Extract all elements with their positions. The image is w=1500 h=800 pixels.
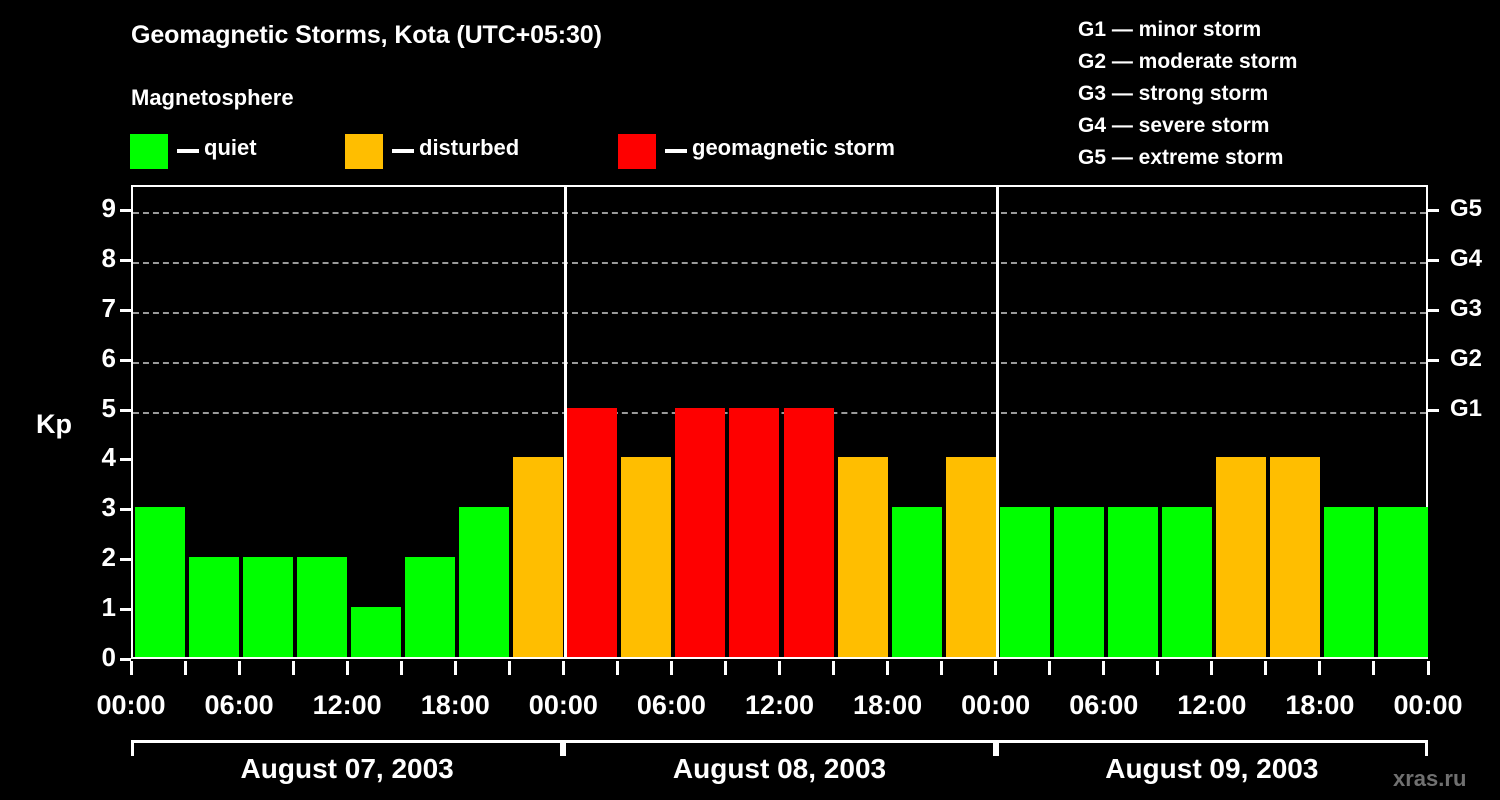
y-tick-mark-7 (120, 309, 131, 312)
date-label-2: August 08, 2003 (673, 753, 886, 785)
y-axis-title: Kp (36, 409, 72, 440)
y-tick-label-7: 7 (102, 293, 116, 324)
bar[interactable] (243, 557, 293, 657)
bar[interactable] (567, 408, 617, 657)
x-tick-mark-8 (562, 661, 565, 675)
gscale-legend-row-1: G1 — minor storm (1078, 14, 1297, 46)
y-tick-label-2: 2 (102, 542, 116, 573)
x-tick-mark-2 (238, 661, 241, 675)
bar[interactable] (1270, 457, 1320, 657)
legend-label: disturbed (419, 135, 519, 161)
bar[interactable] (1000, 507, 1050, 657)
gscale-legend-row-2: G2 — moderate storm (1078, 46, 1297, 78)
g-tick-mark-G3 (1428, 309, 1439, 312)
x-tick-mark-3 (292, 661, 295, 675)
bar[interactable] (135, 507, 185, 657)
x-tick-label-11: 18:00 (1285, 690, 1354, 721)
x-tick-label-2: 12:00 (313, 690, 382, 721)
g-tick-label-G5: G5 (1450, 195, 1482, 223)
x-tick-mark-21 (1264, 661, 1267, 675)
x-tick-mark-14 (886, 661, 889, 675)
legend-swatch-icon (130, 134, 168, 169)
x-tick-mark-17 (1048, 661, 1051, 675)
plot-area[interactable] (131, 185, 1428, 659)
bar[interactable] (405, 557, 455, 657)
x-tick-label-8: 00:00 (961, 690, 1030, 721)
x-tick-mark-0 (130, 661, 133, 675)
g-tick-mark-G4 (1428, 259, 1439, 262)
watermark: xras.ru (1393, 766, 1466, 792)
x-tick-mark-13 (832, 661, 835, 675)
legend-swatch-icon (345, 134, 383, 169)
legend-swatch-icon (618, 134, 656, 169)
g-tick-label-G4: G4 (1450, 245, 1482, 273)
y-tick-label-6: 6 (102, 343, 116, 374)
x-tick-mark-5 (400, 661, 403, 675)
bar[interactable] (459, 507, 509, 657)
x-tick-mark-22 (1318, 661, 1321, 675)
x-tick-mark-9 (616, 661, 619, 675)
y-tick-mark-2 (120, 558, 131, 561)
x-tick-label-1: 06:00 (205, 690, 274, 721)
g-tick-label-G3: G3 (1450, 295, 1482, 323)
bar[interactable] (1108, 507, 1158, 657)
x-tick-mark-1 (184, 661, 187, 675)
bar[interactable] (1054, 507, 1104, 657)
x-tick-mark-18 (1102, 661, 1105, 675)
gscale-legend-row-4: G4 — severe storm (1078, 110, 1297, 142)
g-tick-label-G2: G2 (1450, 345, 1482, 373)
legend-dash-icon (392, 149, 414, 153)
x-tick-label-9: 06:00 (1069, 690, 1138, 721)
bar[interactable] (1378, 507, 1428, 657)
y-tick-label-4: 4 (102, 442, 116, 473)
x-tick-label-5: 06:00 (637, 690, 706, 721)
x-tick-mark-7 (508, 661, 511, 675)
y-tick-label-0: 0 (102, 642, 116, 673)
x-tick-mark-24 (1427, 661, 1430, 675)
gscale-legend-row-3: G3 — strong storm (1078, 78, 1297, 110)
x-tick-mark-4 (346, 661, 349, 675)
y-tick-label-5: 5 (102, 393, 116, 424)
y-tick-label-1: 1 (102, 592, 116, 623)
x-tick-label-3: 18:00 (421, 690, 490, 721)
x-tick-mark-19 (1156, 661, 1159, 675)
x-tick-mark-11 (724, 661, 727, 675)
bar[interactable] (729, 408, 779, 657)
y-tick-label-3: 3 (102, 492, 116, 523)
y-tick-mark-6 (120, 359, 131, 362)
bar[interactable] (1216, 457, 1266, 657)
x-tick-label-0: 00:00 (96, 690, 165, 721)
bar-series (133, 187, 1426, 657)
gscale-legend: G1 — minor stormG2 — moderate stormG3 — … (1078, 14, 1297, 174)
bar[interactable] (838, 457, 888, 657)
y-tick-mark-9 (120, 209, 131, 212)
x-tick-mark-20 (1210, 661, 1213, 675)
x-tick-label-12: 00:00 (1393, 690, 1462, 721)
g-tick-mark-G5 (1428, 209, 1439, 212)
x-tick-mark-23 (1372, 661, 1375, 675)
x-tick-mark-6 (454, 661, 457, 675)
y-tick-label-8: 8 (102, 243, 116, 274)
date-label-3: August 09, 2003 (1105, 753, 1318, 785)
bar[interactable] (892, 507, 942, 657)
legend-label: geomagnetic storm (692, 135, 895, 161)
y-tick-mark-8 (120, 259, 131, 262)
y-tick-mark-1 (120, 608, 131, 611)
g-tick-label-G1: G1 (1450, 395, 1482, 423)
y-tick-mark-3 (120, 508, 131, 511)
bar[interactable] (189, 557, 239, 657)
x-tick-mark-12 (778, 661, 781, 675)
x-tick-label-7: 18:00 (853, 690, 922, 721)
legend-dash-icon (177, 149, 199, 153)
bar[interactable] (675, 408, 725, 657)
bar[interactable] (297, 557, 347, 657)
y-tick-mark-4 (120, 458, 131, 461)
magnetosphere-label: Magnetosphere (131, 85, 294, 111)
g-tick-mark-G2 (1428, 359, 1439, 362)
bar[interactable] (1162, 507, 1212, 657)
bar[interactable] (351, 607, 401, 657)
y-tick-label-9: 9 (102, 193, 116, 224)
bar[interactable] (946, 457, 996, 657)
x-tick-label-6: 12:00 (745, 690, 814, 721)
y-tick-mark-5 (120, 409, 131, 412)
x-tick-label-10: 12:00 (1177, 690, 1246, 721)
legend-dash-icon (665, 149, 687, 153)
x-tick-mark-10 (670, 661, 673, 675)
bar[interactable] (513, 457, 563, 657)
bar[interactable] (1324, 507, 1374, 657)
legend-label: quiet (204, 135, 257, 161)
bar[interactable] (784, 408, 834, 657)
date-label-1: August 07, 2003 (241, 753, 454, 785)
gscale-legend-row-5: G5 — extreme storm (1078, 142, 1297, 174)
x-tick-mark-15 (940, 661, 943, 675)
page-title: Geomagnetic Storms, Kota (UTC+05:30) (131, 21, 602, 50)
x-tick-mark-16 (994, 661, 997, 675)
g-tick-mark-G1 (1428, 409, 1439, 412)
x-tick-label-4: 00:00 (529, 690, 598, 721)
bar[interactable] (621, 457, 671, 657)
